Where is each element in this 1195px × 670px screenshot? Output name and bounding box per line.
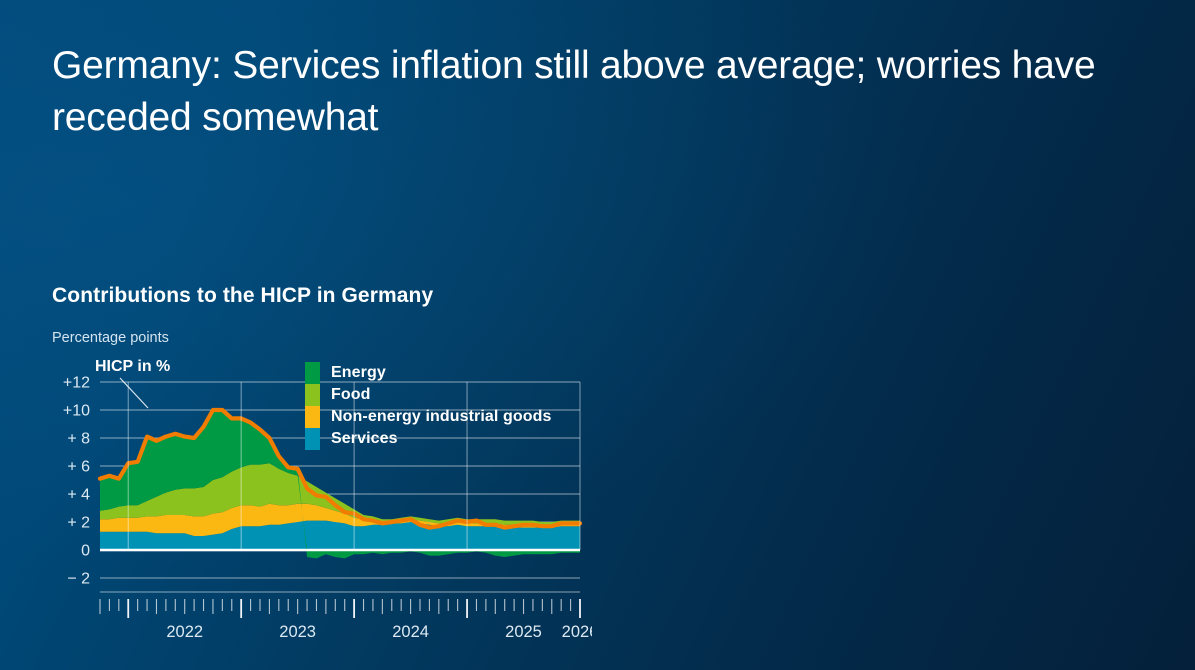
hicp-legend: Energy Food Non-energy industrial goods …	[305, 362, 575, 450]
svg-text:2026: 2026	[562, 623, 592, 641]
left-panel: Contributions to the HICP in Germany Per…	[52, 284, 592, 650]
svg-text:+ 8: + 8	[67, 430, 90, 447]
legend-label-services: Services	[331, 430, 398, 448]
hicp-contributions-chart: − 20+ 2+ 4+ 6+ 8+10+12202220232024202520…	[52, 360, 592, 650]
legend-swatch-food	[305, 384, 320, 406]
page-title: Germany: Services inflation still above …	[52, 40, 1167, 144]
infographic-page: Germany: Services inflation still above …	[0, 0, 1195, 670]
svg-text:− 2: − 2	[67, 570, 90, 587]
svg-text:+ 2: + 2	[67, 514, 90, 531]
left-panel-title: Contributions to the HICP in Germany	[52, 284, 592, 308]
legend-item-non-energy-industrial-goods: Non-energy industrial goods	[305, 406, 575, 428]
legend-label-food: Food	[331, 386, 371, 404]
legend-item-services: Services	[305, 428, 575, 450]
legend-label-non-energy-industrial-goods: Non-energy industrial goods	[331, 408, 552, 426]
legend-label-energy: Energy	[331, 364, 386, 382]
legend-swatch-non-energy-industrial-goods	[305, 406, 320, 428]
svg-text:2025: 2025	[505, 623, 542, 641]
legend-swatch-services	[305, 428, 320, 450]
svg-text:2022: 2022	[166, 623, 203, 641]
svg-text:+ 4: + 4	[67, 486, 90, 503]
legend-item-energy: Energy	[305, 362, 575, 384]
svg-text:0: 0	[81, 542, 90, 559]
svg-text:2023: 2023	[279, 623, 316, 641]
svg-text:+ 6: + 6	[67, 458, 90, 475]
hicp-line-annotation: HICP in %	[95, 358, 170, 376]
svg-text:2024: 2024	[392, 623, 429, 641]
svg-text:+12: +12	[63, 374, 90, 391]
left-panel-unit-caption: Percentage points	[52, 330, 592, 346]
legend-item-food: Food	[305, 384, 575, 406]
legend-swatch-energy	[305, 362, 320, 384]
svg-text:+10: +10	[63, 402, 90, 419]
